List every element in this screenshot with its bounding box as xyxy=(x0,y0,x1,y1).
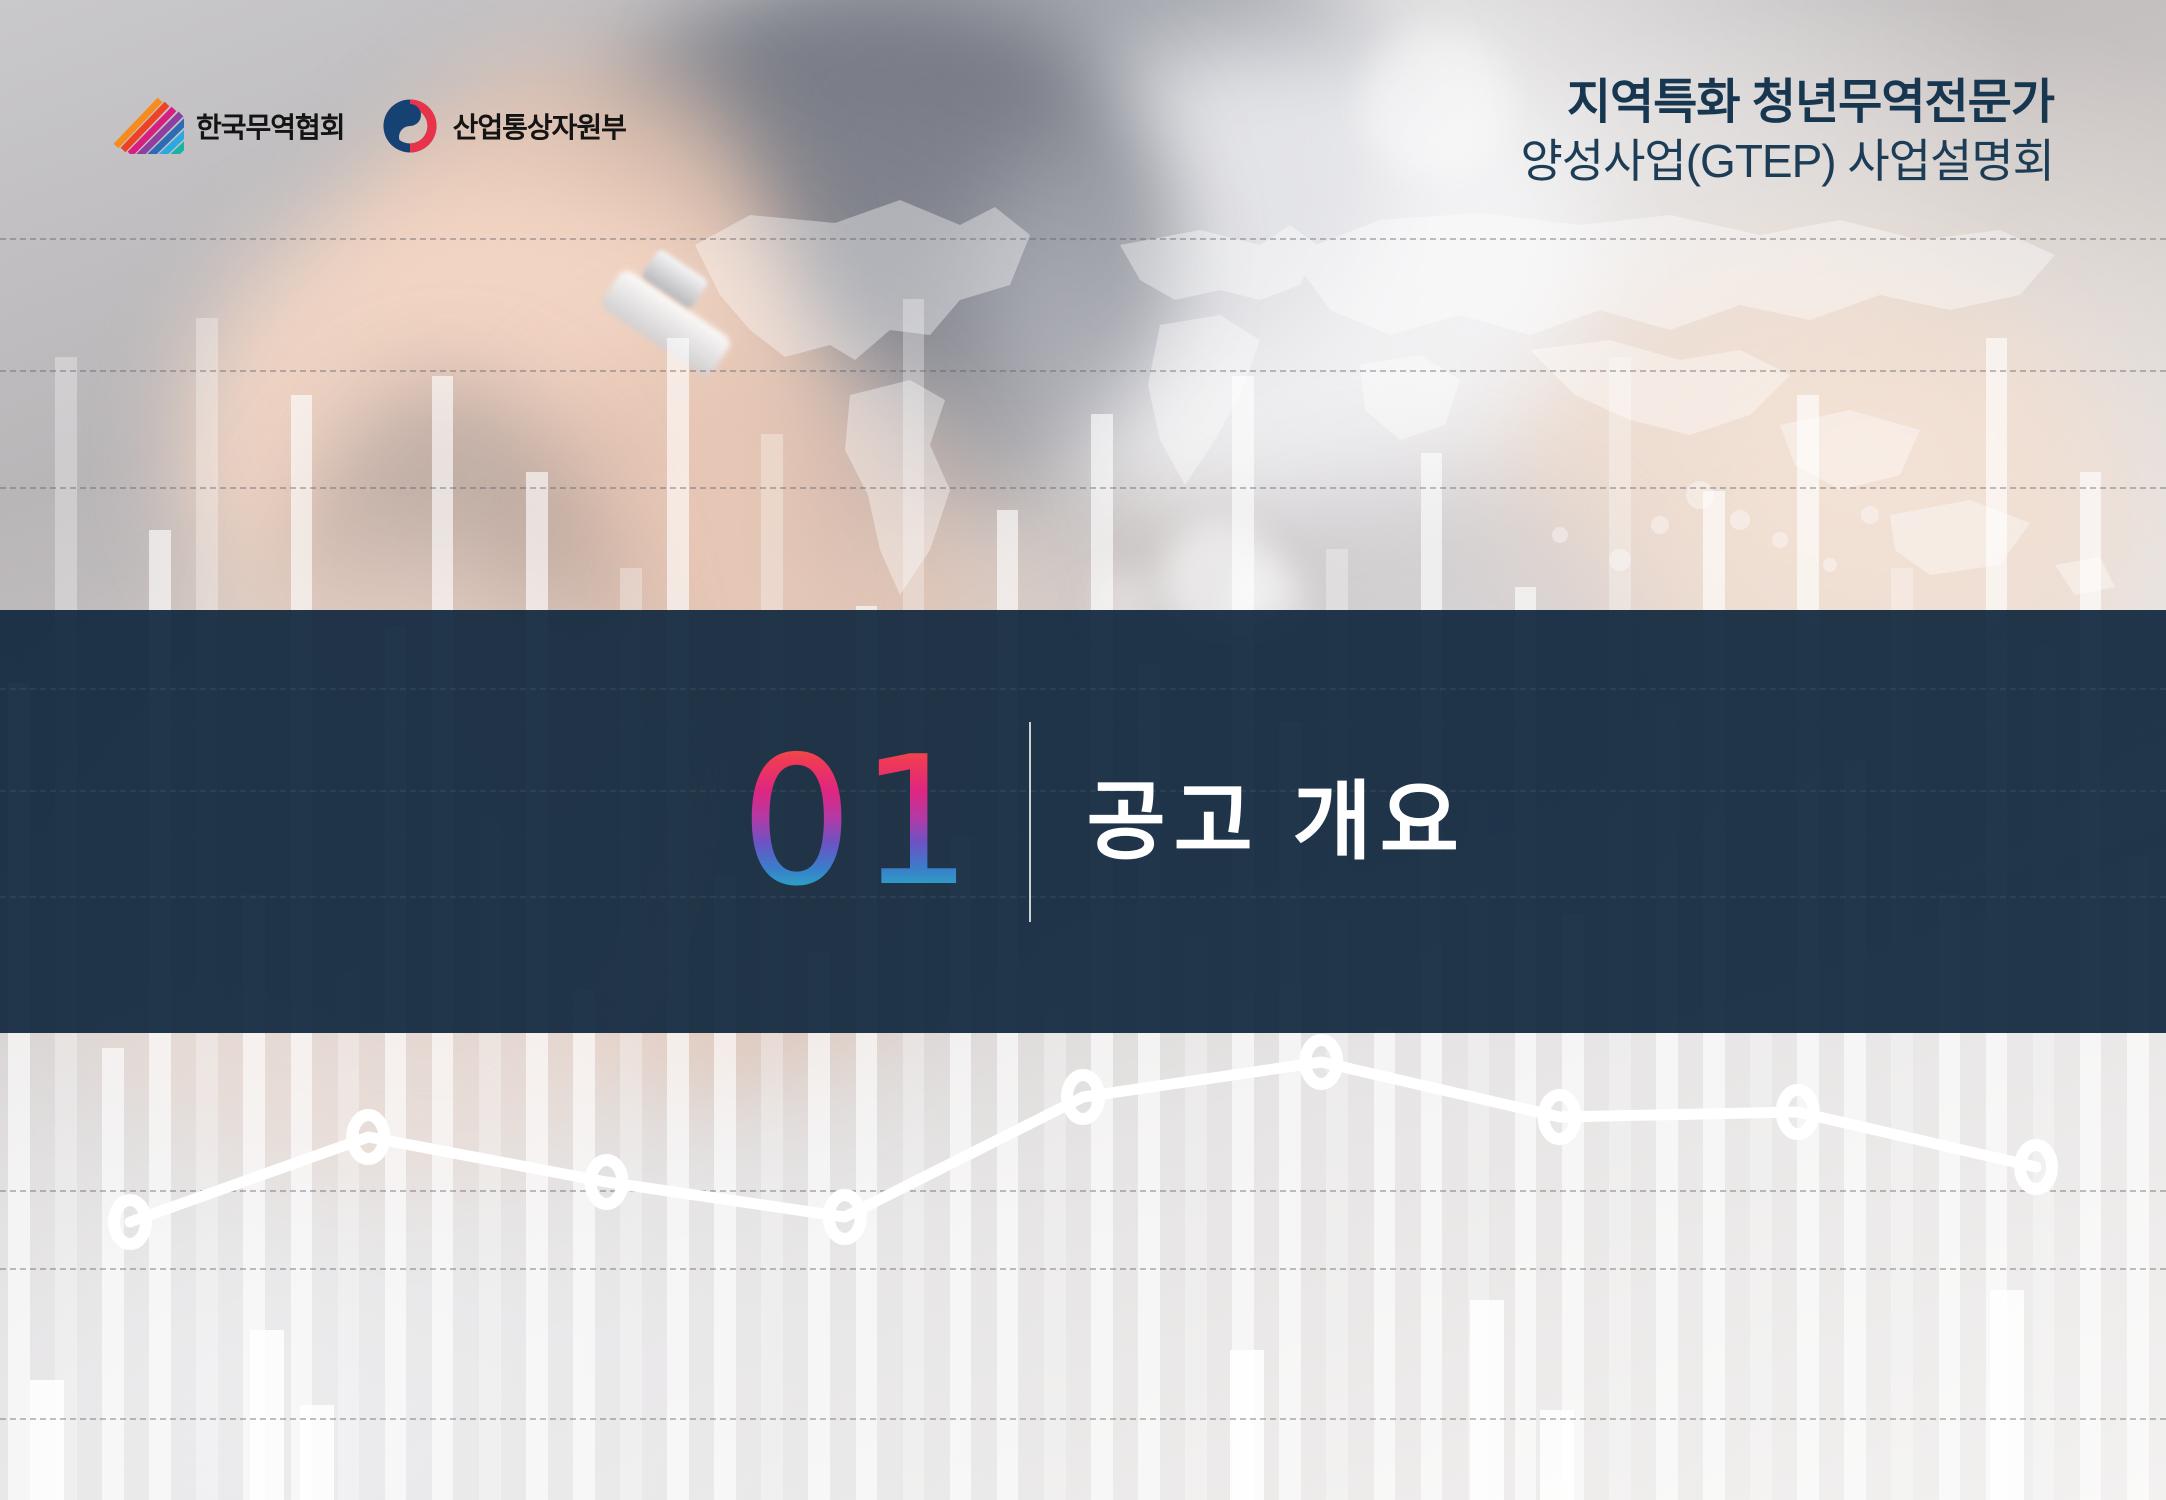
background-bar xyxy=(1470,1300,1504,1500)
presentation-slide: 01 공고 개요 한국무역협회 xyxy=(0,0,2166,1500)
trend-line-chart xyxy=(0,1000,2166,1320)
gridline xyxy=(0,370,2166,372)
header-title-line1: 지역특화 청년무역전문가 xyxy=(1520,74,2054,133)
header-title-line2: 양성사업(GTEP) 사업설명회 xyxy=(1520,133,2054,189)
background-bar xyxy=(1540,1410,1574,1500)
kita-logo-label: 한국무역협회 xyxy=(196,106,345,146)
section-title: 공고 개요 xyxy=(1087,779,1467,865)
motie-logo-label: 산업통상자원부 xyxy=(453,106,626,146)
background-bar xyxy=(1990,1290,2024,1500)
motie-logo: 산업통상자원부 xyxy=(379,98,626,154)
trend-line xyxy=(130,1062,2036,1222)
kita-rainbow-mark xyxy=(108,98,184,154)
section-number: 01 xyxy=(740,733,979,911)
gridline xyxy=(0,487,2166,489)
logo-row: 한국무역협회 산업통상자원부 xyxy=(108,98,626,154)
background-bar xyxy=(250,1330,284,1500)
kita-logo: 한국무역협회 xyxy=(108,98,345,154)
background-bar xyxy=(30,1380,64,1500)
section-band-content: 01 공고 개요 xyxy=(0,610,2166,1033)
background-bar xyxy=(1230,1350,1264,1500)
gridline xyxy=(0,1418,2166,1420)
section-divider xyxy=(1029,722,1031,922)
taegeuk-mark xyxy=(379,98,441,154)
gridline xyxy=(0,238,2166,240)
header-title: 지역특화 청년무역전문가 양성사업(GTEP) 사업설명회 xyxy=(1520,74,2054,189)
